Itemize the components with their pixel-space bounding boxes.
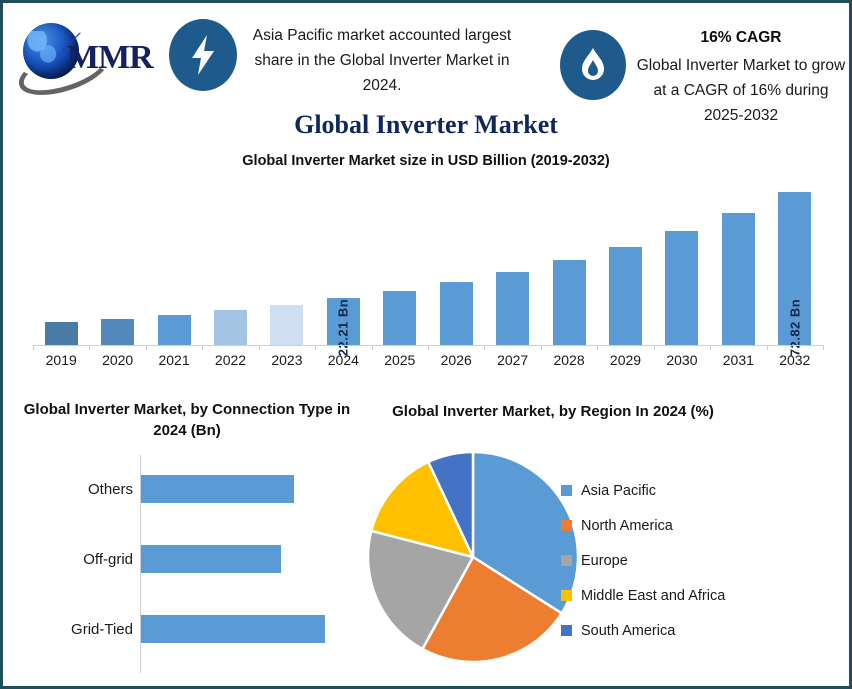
tick-sep [146, 345, 147, 350]
tick-sep [597, 345, 598, 350]
pie-legend: Asia PacificNorth AmericaEuropeMiddle Ea… [561, 473, 725, 648]
hbar-others [141, 475, 294, 503]
bar-2025 [383, 291, 416, 345]
legend-item-north-america: North America [561, 508, 725, 543]
hbar-plot-area: OthersOff-gridGrid-Tied [7, 453, 363, 675]
legend-swatch [561, 555, 572, 566]
header: ⁄ MMR Asia Pacific market accounted larg… [3, 3, 849, 151]
bar-2023 [270, 305, 303, 345]
infographic-root: ⁄ MMR Asia Pacific market accounted larg… [0, 0, 852, 689]
legend-item-middle-east-and-africa: Middle East and Africa [561, 578, 725, 613]
hbar-grid-tied [141, 615, 325, 643]
bar-plot-area: 22.21 Bn72.82 Bn [33, 177, 823, 345]
hbar-chart-title: Global Inverter Market, by Connection Ty… [17, 399, 357, 442]
legend-label: Middle East and Africa [581, 588, 725, 604]
legend-label: South America [581, 623, 675, 639]
x-tick-2031: 2031 [710, 352, 766, 368]
hbar-label-grid-tied: Grid-Tied [7, 621, 133, 638]
x-tick-2029: 2029 [598, 352, 654, 368]
x-tick-2026: 2026 [428, 352, 484, 368]
bar-2030 [665, 231, 698, 345]
tick-sep [823, 345, 824, 350]
tick-sep [372, 345, 373, 350]
x-tick-2019: 2019 [33, 352, 89, 368]
legend-swatch [561, 485, 572, 496]
x-tick-2028: 2028 [541, 352, 597, 368]
x-tick-2023: 2023 [259, 352, 315, 368]
bar-2020 [101, 319, 134, 345]
bar-2022 [214, 310, 247, 345]
bar-2029 [609, 247, 642, 345]
tick-sep [541, 345, 542, 350]
region-pie-chart: Global Inverter Market, by Region In 202… [363, 399, 849, 689]
x-tick-2027: 2027 [485, 352, 541, 368]
hbar-label-off-grid: Off-grid [7, 551, 133, 568]
left-statement: Asia Pacific market accounted largest sh… [252, 23, 512, 98]
pie-graphic [363, 447, 583, 667]
bar-2032: 72.82 Bn [778, 192, 811, 345]
x-tick-2022: 2022 [203, 352, 259, 368]
bar-2026 [440, 282, 473, 345]
tick-sep [33, 345, 34, 350]
legend-swatch [561, 625, 572, 636]
bar-2019 [45, 322, 78, 345]
connection-type-bar-chart: Global Inverter Market, by Connection Ty… [7, 399, 363, 685]
legend-item-south-america: South America [561, 613, 725, 648]
flame-icon [560, 30, 626, 100]
tick-sep [484, 345, 485, 350]
tick-sep [767, 345, 768, 350]
x-tick-2030: 2030 [654, 352, 710, 368]
bar-2027 [496, 272, 529, 345]
legend-item-asia-pacific: Asia Pacific [561, 473, 725, 508]
tick-sep [202, 345, 203, 350]
tick-sep [89, 345, 90, 350]
legend-label: North America [581, 518, 673, 534]
legend-swatch [561, 590, 572, 601]
tick-sep [654, 345, 655, 350]
x-tick-2020: 2020 [90, 352, 146, 368]
mmr-logo: ⁄ MMR [17, 17, 167, 95]
x-tick-2024: 2024 [315, 352, 371, 368]
bar-2031 [722, 213, 755, 345]
x-tick-2021: 2021 [146, 352, 202, 368]
page-title: Global Inverter Market [3, 110, 849, 140]
pie-chart-title: Global Inverter Market, by Region In 202… [383, 401, 723, 422]
hbar-label-others: Others [7, 481, 133, 498]
x-tick-2025: 2025 [372, 352, 428, 368]
cagr-headline: 16% CAGR [633, 29, 849, 47]
legend-item-europe: Europe [561, 543, 725, 578]
bar-2028 [553, 260, 586, 345]
legend-swatch [561, 520, 572, 531]
bar-chart-title: Global Inverter Market size in USD Billi… [3, 153, 849, 169]
hbar-off-grid [141, 545, 281, 573]
tick-sep [428, 345, 429, 350]
logo-text: MMR [67, 39, 153, 77]
tick-sep [710, 345, 711, 350]
bar-2021 [158, 315, 191, 345]
market-size-bar-chart: Global Inverter Market size in USD Billi… [3, 153, 849, 385]
bar-x-tick-labels: 2019202020212022202320242025202620272028… [33, 348, 823, 374]
tick-sep [259, 345, 260, 350]
tick-sep [315, 345, 316, 350]
bar-2024: 22.21 Bn [327, 298, 360, 345]
lightning-bolt-icon [169, 19, 237, 91]
x-tick-2032: 2032 [767, 352, 823, 368]
legend-label: Asia Pacific [581, 483, 656, 499]
legend-label: Europe [581, 553, 628, 569]
